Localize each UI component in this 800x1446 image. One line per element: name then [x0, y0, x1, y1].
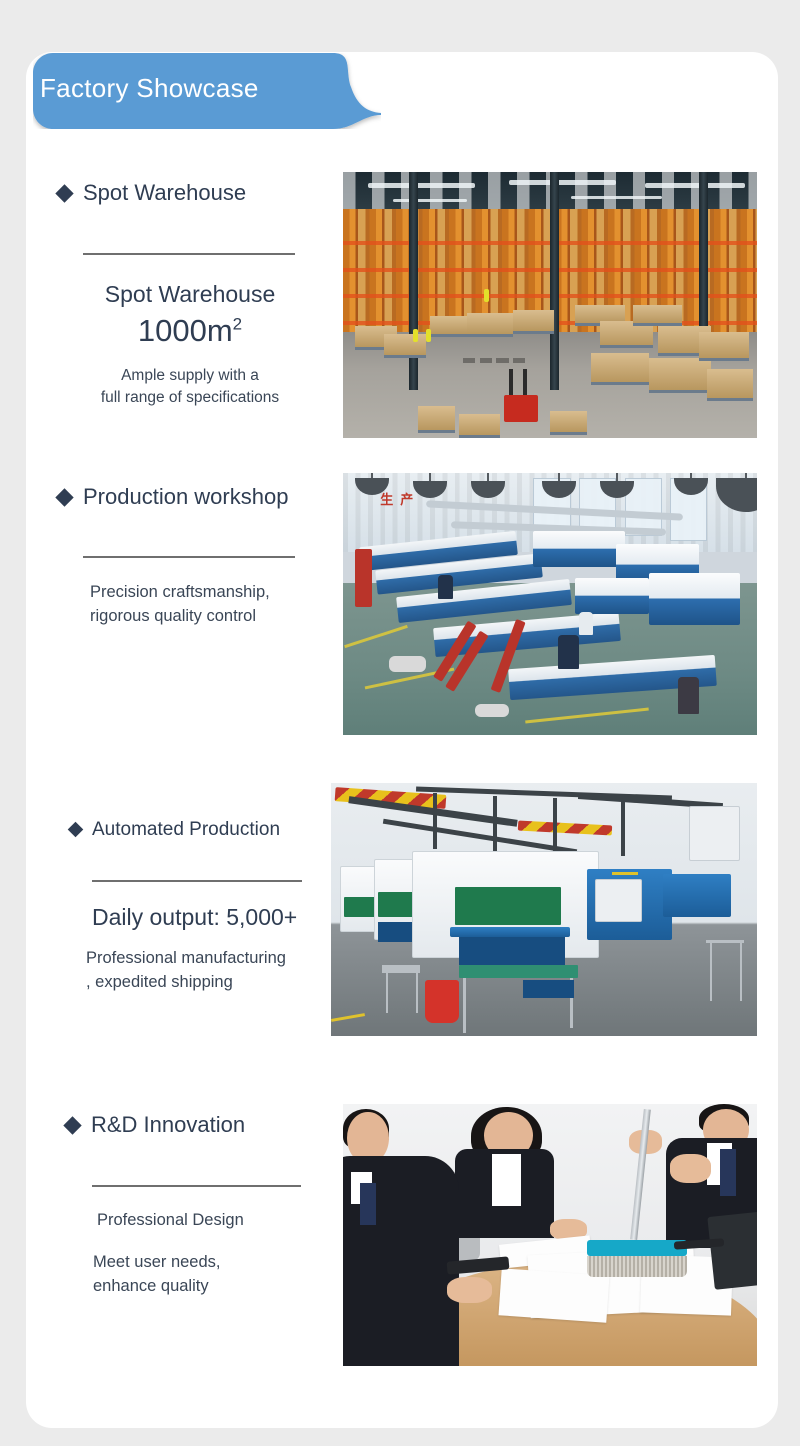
factory-showcase-page: Factory Showcase Spot Warehouse Spot War… — [0, 0, 800, 1446]
warehouse-metric-value: 1000m — [138, 313, 233, 348]
section-divider — [83, 556, 295, 558]
section-heading: Automated Production — [70, 820, 330, 839]
section-heading: Spot Warehouse — [58, 182, 318, 204]
section-heading: R&D Innovation — [66, 1114, 336, 1136]
section-title: R&D Innovation — [91, 1114, 245, 1136]
diamond-icon — [63, 1116, 81, 1134]
workshop-photo: 生产 — [343, 473, 757, 735]
rd-meeting-photo — [343, 1104, 757, 1366]
section-divider — [92, 880, 302, 882]
warehouse-metric-sup: 2 — [233, 315, 242, 334]
warehouse-description: Ample supply with a full range of specif… — [80, 365, 300, 409]
warehouse-metric: 1000m2 — [80, 314, 300, 348]
diamond-icon — [68, 822, 84, 838]
automation-highlight: Daily output: 5,000+ — [92, 903, 330, 932]
rd-subtitle: Professional Design — [97, 1209, 336, 1233]
section-production-workshop: Production workshop Precision craftsmans… — [58, 486, 318, 629]
section-title: Spot Warehouse — [83, 182, 246, 204]
workshop-chinese-text: 生产 — [380, 489, 420, 508]
workshop-description: Precision craftsmanship, rigorous qualit… — [90, 581, 318, 629]
section-spot-warehouse: Spot Warehouse Spot Warehouse 1000m2 Amp… — [58, 182, 318, 409]
warehouse-photo — [343, 172, 757, 438]
section-heading: Production workshop — [58, 486, 318, 508]
section-divider — [92, 1185, 301, 1187]
page-title: Factory Showcase — [40, 73, 259, 104]
section-automated-production: Automated Production Daily output: 5,000… — [70, 820, 330, 995]
section-title: Automated Production — [92, 820, 280, 839]
section-divider — [83, 253, 295, 255]
diamond-icon — [55, 488, 73, 506]
section-title: Production workshop — [83, 486, 288, 508]
automation-description: Professional manufacturing , expedited s… — [86, 947, 330, 995]
rd-description: Meet user needs, enhance quality — [93, 1251, 336, 1299]
section-rd-innovation: R&D Innovation Professional Design Meet … — [66, 1114, 336, 1299]
automated-production-photo — [331, 783, 757, 1036]
warehouse-highlight: Spot Warehouse — [80, 280, 300, 309]
diamond-icon — [55, 184, 73, 202]
